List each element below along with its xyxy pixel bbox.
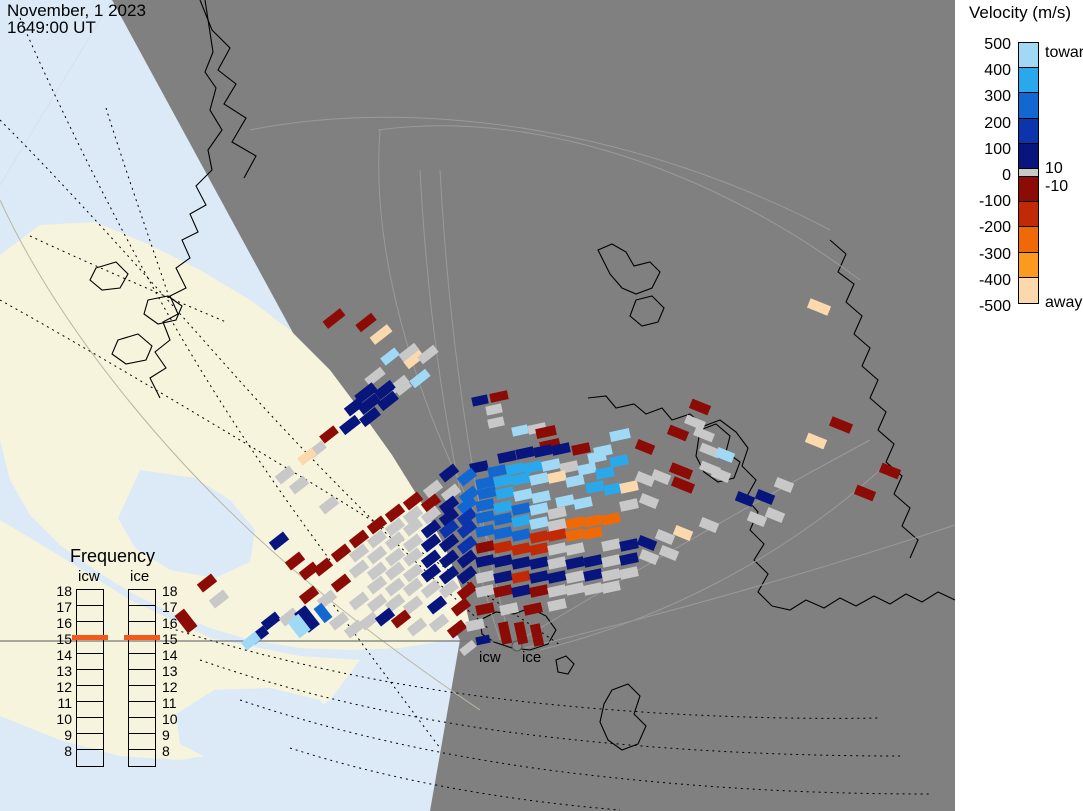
velocity-cell[interactable] <box>511 542 531 556</box>
frequency-cell-ice-15 <box>129 638 155 654</box>
colorbar-tick--300: -300 <box>959 246 1011 264</box>
velocity-cell[interactable] <box>495 486 515 500</box>
velocity-cell[interactable] <box>699 517 719 533</box>
colorbar-label-away: away <box>1045 294 1082 312</box>
velocity-cell[interactable] <box>555 494 575 508</box>
velocity-cell[interactable] <box>565 474 585 488</box>
velocity-cell[interactable] <box>635 471 655 487</box>
frequency-scale-icw[interactable] <box>76 589 104 767</box>
velocity-cell[interactable] <box>547 470 567 484</box>
frequency-tick-ice-9: 9 <box>162 727 182 743</box>
frequency-tick-ice-18: 18 <box>162 583 182 599</box>
velocity-cell[interactable] <box>595 466 615 480</box>
fov-arc-upper <box>250 117 830 230</box>
velocity-cell[interactable] <box>323 308 346 329</box>
frequency-tick-ice-17: 17 <box>162 599 182 615</box>
velocity-cell[interactable] <box>565 542 585 556</box>
frequency-legend-title: Frequency <box>70 546 155 567</box>
colorbar-label-positive-threshold: 10 <box>1045 160 1063 178</box>
frequency-marker-icw <box>72 635 108 640</box>
map-panel[interactable]: November, 1 2023 1649:00 UT icw ice Freq… <box>0 0 955 811</box>
frequency-tick-icw-18: 18 <box>52 583 72 599</box>
velocity-cell[interactable] <box>573 496 593 510</box>
frequency-cell-icw-17 <box>77 606 103 622</box>
colorbar-tick--500: -500 <box>959 298 1011 316</box>
velocity-cell[interactable] <box>565 556 585 570</box>
velocity-cell[interactable] <box>515 446 535 460</box>
velocity-cell[interactable] <box>639 493 659 509</box>
frequency-tick-ice-13: 13 <box>162 663 182 679</box>
velocity-cell[interactable] <box>511 514 531 528</box>
frequency-column-header-icw: icw <box>78 568 100 585</box>
velocity-cell[interactable] <box>585 480 605 494</box>
frequency-cell-icw-15 <box>77 638 103 654</box>
velocity-cell[interactable] <box>635 439 655 455</box>
velocity-cell[interactable] <box>565 570 585 584</box>
colorbar-segment--350 <box>1019 253 1038 278</box>
velocity-cell[interactable] <box>529 570 549 584</box>
velocity-cell[interactable] <box>475 510 495 524</box>
velocity-cell[interactable] <box>497 450 517 464</box>
velocity-cell[interactable] <box>601 554 621 568</box>
frequency-tick-icw-10: 10 <box>52 711 72 727</box>
velocity-cell[interactable] <box>370 324 393 345</box>
velocity-cell[interactable] <box>457 566 477 585</box>
velocity-cell[interactable] <box>583 526 603 540</box>
velocity-cell[interactable] <box>651 469 671 485</box>
velocity-colorbar[interactable] <box>1018 42 1039 304</box>
frequency-cell-ice-9 <box>129 734 155 750</box>
frequency-tick-ice-11: 11 <box>162 695 182 711</box>
frequency-cell-icw-18 <box>77 590 103 606</box>
velocity-cell[interactable] <box>523 460 543 474</box>
frequency-cell-ice-8 <box>129 750 155 766</box>
velocity-cell[interactable] <box>565 516 585 530</box>
velocity-cell[interactable] <box>755 489 775 505</box>
velocity-cell[interactable] <box>805 433 827 450</box>
coastline-faroes <box>556 656 574 674</box>
velocity-cell[interactable] <box>583 514 603 528</box>
velocity-cell[interactable] <box>547 556 567 570</box>
frequency-scale-ice[interactable] <box>128 589 156 767</box>
velocity-cell[interactable] <box>547 598 567 612</box>
frequency-cell-icw-9 <box>77 734 103 750</box>
colorbar-tick--400: -400 <box>959 272 1011 290</box>
time-label: 1649:00 UT <box>7 19 96 37</box>
colorbar-segment--475 <box>1019 278 1038 303</box>
frequency-tick-icw-14: 14 <box>52 647 72 663</box>
coastline-svalbard-2 <box>630 296 664 326</box>
velocity-cell[interactable] <box>601 512 621 526</box>
colorbar-title: Velocity (m/s) <box>969 3 1071 23</box>
velocity-cell[interactable] <box>807 298 831 316</box>
colorbar-segment-150 <box>1019 119 1038 144</box>
velocity-cell[interactable] <box>601 580 621 594</box>
frequency-cell-ice-14 <box>129 654 155 670</box>
frequency-tick-icw-13: 13 <box>52 663 72 679</box>
coastline-britain <box>600 684 646 750</box>
velocity-cell[interactable] <box>711 467 731 483</box>
velocity-cell[interactable] <box>511 502 531 516</box>
frequency-cell-ice-18 <box>129 590 155 606</box>
frequency-cell-icw-11 <box>77 702 103 718</box>
station-label-icw: icw <box>479 649 501 666</box>
velocity-cell[interactable] <box>639 549 659 565</box>
velocity-cell[interactable] <box>689 399 711 416</box>
frequency-marker-ice <box>124 635 160 640</box>
frequency-cell-icw-10 <box>77 718 103 734</box>
velocity-cell[interactable] <box>547 584 567 598</box>
frequency-tick-ice-8: 8 <box>162 743 182 759</box>
colorbar-label-toward: toward <box>1045 44 1083 62</box>
velocity-cell[interactable] <box>511 528 531 542</box>
velocity-cell[interactable] <box>583 582 603 596</box>
colorbar-tick--100: -100 <box>959 193 1011 211</box>
frequency-cell-icw-12 <box>77 686 103 702</box>
velocity-cell[interactable] <box>511 556 531 570</box>
colorbar-segment-250 <box>1019 93 1038 118</box>
velocity-cell[interactable] <box>715 447 735 463</box>
velocity-cell[interactable] <box>493 554 513 568</box>
coastline-svalbard <box>598 244 660 294</box>
frequency-cell-ice-12 <box>129 686 155 702</box>
coastline-russia-mid <box>830 240 918 558</box>
frequency-tick-icw-8: 8 <box>52 743 72 759</box>
velocity-cell[interactable] <box>493 526 513 540</box>
velocity-cell[interactable] <box>571 442 591 456</box>
velocity-cell[interactable] <box>587 450 607 464</box>
velocity-cell[interactable] <box>529 556 549 570</box>
frequency-tick-ice-14: 14 <box>162 647 182 663</box>
velocity-cell[interactable] <box>487 416 505 428</box>
velocity-cell[interactable] <box>541 458 561 472</box>
velocity-cell[interactable] <box>565 528 585 542</box>
velocity-cell[interactable] <box>475 540 495 554</box>
velocity-cell[interactable] <box>439 464 459 483</box>
velocity-cell[interactable] <box>735 491 755 507</box>
frequency-legend: Frequency icw ice 18171615141312111098 1… <box>58 546 208 786</box>
colorbar-tick-500: 500 <box>959 36 1011 54</box>
colorbar-segment-450 <box>1019 43 1038 68</box>
frequency-tick-icw-12: 12 <box>52 679 72 695</box>
velocity-cell[interactable] <box>577 462 597 476</box>
colorbar-segment--150 <box>1019 202 1038 227</box>
velocity-cell[interactable] <box>380 347 400 365</box>
colorbar-tick-0: 0 <box>959 167 1011 185</box>
velocity-cell[interactable] <box>364 367 385 386</box>
velocity-cell[interactable] <box>619 552 639 566</box>
velocity-cell[interactable] <box>829 416 853 434</box>
velocity-cell[interactable] <box>669 462 693 480</box>
frequency-tick-ice-16: 16 <box>162 615 182 631</box>
velocity-cell[interactable] <box>471 394 489 406</box>
velocity-cell[interactable] <box>459 640 477 656</box>
velocity-cell[interactable] <box>523 602 543 616</box>
velocity-cell[interactable] <box>609 454 629 468</box>
velocity-cell[interactable] <box>531 490 551 504</box>
velocity-cell[interactable] <box>493 500 513 514</box>
colorbar-segment-0 <box>1019 169 1038 177</box>
frequency-tick-ice-10: 10 <box>162 711 182 727</box>
velocity-cell[interactable] <box>533 444 553 458</box>
velocity-cell[interactable] <box>493 540 513 554</box>
velocity-cell[interactable] <box>475 584 495 598</box>
velocity-cell[interactable] <box>529 502 549 516</box>
velocity-cell[interactable] <box>601 568 621 582</box>
velocity-cell[interactable] <box>601 538 621 552</box>
velocity-cell[interactable] <box>355 313 376 332</box>
velocity-cell[interactable] <box>493 512 513 526</box>
velocity-cell[interactable] <box>489 390 508 403</box>
frequency-tick-icw-16: 16 <box>52 615 72 631</box>
velocity-cell[interactable] <box>565 582 585 596</box>
velocity-cell[interactable] <box>529 584 549 598</box>
frequency-cell-icw-13 <box>77 670 103 686</box>
velocity-cell[interactable] <box>655 529 675 545</box>
velocity-cell[interactable] <box>854 485 876 502</box>
colorbar-segment--250 <box>1019 227 1038 252</box>
frequency-tick-ice-15: 15 <box>162 631 182 647</box>
frequency-cell-ice-13 <box>129 670 155 686</box>
frequency-tick-icw-11: 11 <box>52 695 72 711</box>
velocity-cell[interactable] <box>475 570 495 584</box>
velocity-cell[interactable] <box>511 570 531 584</box>
superdarn-velocity-map: November, 1 2023 1649:00 UT icw ice Freq… <box>0 0 1083 811</box>
frequency-column-header-ice: ice <box>130 568 149 585</box>
colorbar-tick-300: 300 <box>959 88 1011 106</box>
velocity-cell[interactable] <box>511 584 531 598</box>
velocity-cell[interactable] <box>765 507 785 523</box>
colorbar-tick-200: 200 <box>959 115 1011 133</box>
velocity-cell[interactable] <box>529 542 549 556</box>
velocity-cell[interactable] <box>673 525 693 541</box>
velocity-cell[interactable] <box>529 530 549 544</box>
colorbar-panel: Velocity (m/s) 5004003002001000-100-200-… <box>955 0 1083 811</box>
colorbar-segment--50 <box>1019 177 1038 202</box>
velocity-cell[interactable] <box>583 568 603 582</box>
frequency-tick-icw-17: 17 <box>52 599 72 615</box>
velocity-cell[interactable] <box>547 506 567 520</box>
colorbar-segment-350 <box>1019 68 1038 93</box>
velocity-cell[interactable] <box>619 480 639 494</box>
velocity-cell[interactable] <box>637 535 657 551</box>
coastline-russia-north <box>772 592 955 610</box>
frequency-cell-ice-17 <box>129 606 155 622</box>
colorbar-tick-100: 100 <box>959 141 1011 159</box>
velocity-cell[interactable] <box>684 415 706 431</box>
velocity-cell[interactable] <box>667 425 689 442</box>
colorbar-segment-50 <box>1019 144 1038 169</box>
velocity-cell[interactable] <box>619 538 639 552</box>
frequency-tick-icw-9: 9 <box>52 727 72 743</box>
frequency-cell-icw-8 <box>77 750 103 766</box>
velocity-cell[interactable] <box>485 403 503 415</box>
station-label-ice: ice <box>522 649 541 666</box>
velocity-cell[interactable] <box>475 524 495 538</box>
colorbar-tick-400: 400 <box>959 62 1011 80</box>
velocity-cell[interactable] <box>511 424 529 436</box>
velocity-cell[interactable] <box>619 566 639 580</box>
velocity-cell[interactable] <box>513 488 533 502</box>
frequency-cell-ice-11 <box>129 702 155 718</box>
velocity-cell[interactable] <box>529 472 549 486</box>
velocity-cell[interactable] <box>493 570 513 584</box>
velocity-cell[interactable] <box>671 476 695 494</box>
frequency-tick-icw-15: 15 <box>52 631 72 647</box>
fov-range-ring-outer <box>378 126 860 280</box>
frequency-cell-icw-14 <box>77 654 103 670</box>
velocity-cell[interactable] <box>547 570 567 584</box>
velocity-cell[interactable] <box>609 428 631 442</box>
velocity-cell[interactable] <box>547 542 567 556</box>
velocity-cell[interactable] <box>529 516 549 530</box>
colorbar-tick--200: -200 <box>959 219 1011 237</box>
velocity-cell[interactable] <box>619 498 639 512</box>
frequency-cell-ice-10 <box>129 718 155 734</box>
velocity-cell[interactable] <box>659 545 679 561</box>
colorbar-label-negative-threshold: -10 <box>1045 178 1068 196</box>
velocity-cell[interactable] <box>475 635 490 646</box>
velocity-cell[interactable] <box>583 554 603 568</box>
frequency-tick-ice-12: 12 <box>162 679 182 695</box>
